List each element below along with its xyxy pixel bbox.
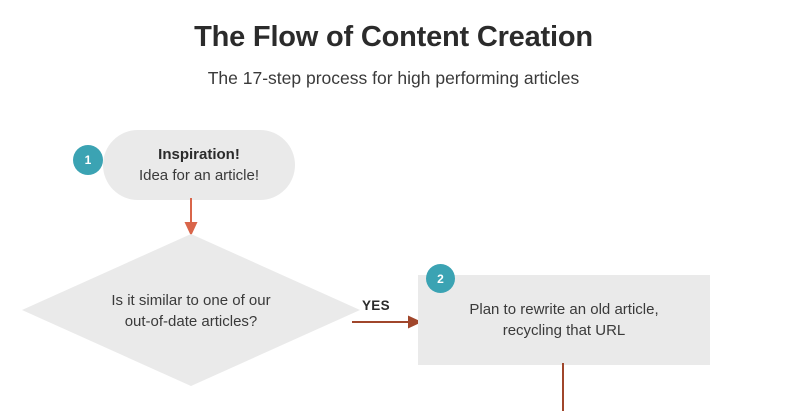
flowchart-canvas: The Flow of Content Creation The 17-step… [0,0,787,411]
flow-decision-1-line1: Is it similar to one of our [111,290,270,311]
flow-step-2-line1: Plan to rewrite an old article, [469,299,658,320]
page-subtitle: The 17-step process for high performing … [0,67,787,89]
page-title: The Flow of Content Creation [0,20,787,54]
flow-step-2-line2: recycling that URL [503,320,626,341]
flow-step-2-node[interactable]: Plan to rewrite an old article, recyclin… [418,275,710,365]
flow-step-1-badge: 1 [73,145,103,175]
connector-step1-to-decision-arrow [176,198,206,238]
flow-step-1-body: Idea for an article! [139,165,259,186]
flow-step-1-heading: Inspiration! [158,144,240,165]
flow-decision-1-node[interactable]: Is it similar to one of our out-of-date … [22,234,360,386]
flow-step-2-badge: 2 [426,264,455,293]
flow-step-1-node[interactable]: Inspiration! Idea for an article! [103,130,295,200]
connector-step2-down-line [552,363,574,411]
flow-decision-1-line2: out-of-date articles? [125,311,258,332]
connector-decision-to-step2-arrow [352,310,426,336]
